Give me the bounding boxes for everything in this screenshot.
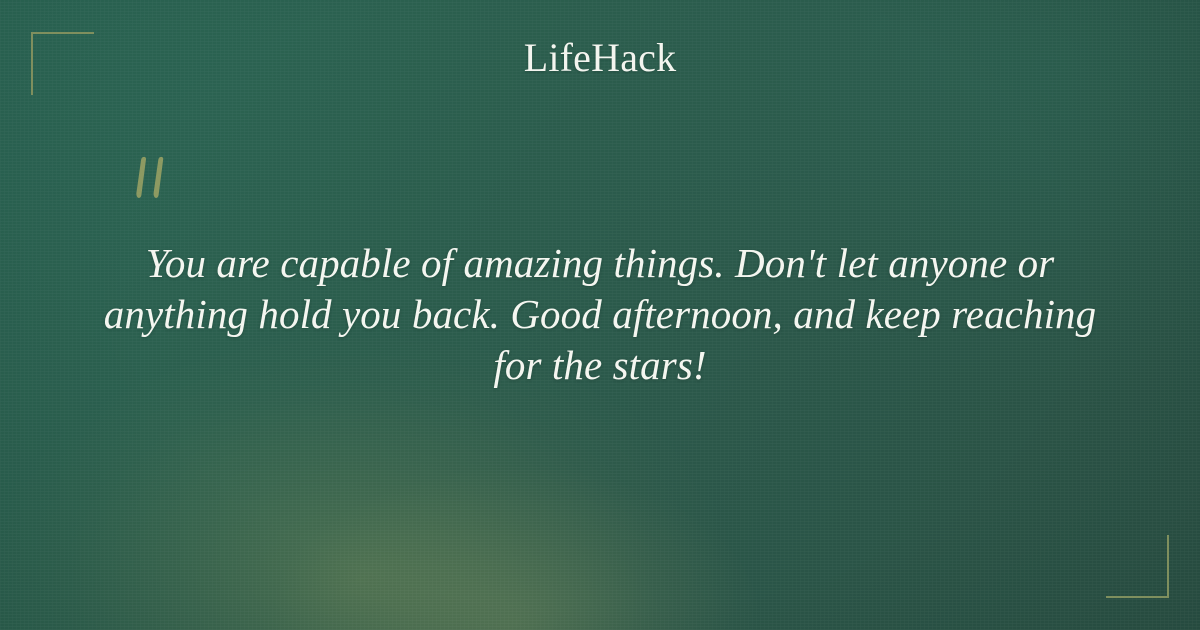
quote-card: LifeHack You are capable of amazing thin… xyxy=(0,0,1200,630)
brand-logo: LifeHack xyxy=(0,36,1200,80)
quote-text: You are capable of amazing things. Don't… xyxy=(88,238,1112,391)
quotation-mark-icon xyxy=(128,151,188,215)
corner-bracket-bottom-right-icon xyxy=(1106,535,1169,598)
